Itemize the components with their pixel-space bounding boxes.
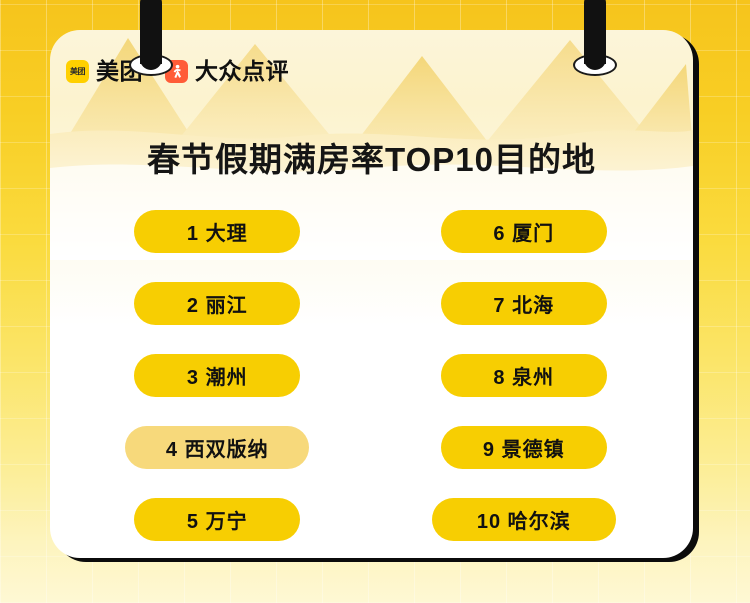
- dianping-wordmark: 大众点评: [195, 60, 289, 83]
- rank-cell-6: 6 厦门: [381, 195, 694, 267]
- rank-pill-1[interactable]: 1 大理: [134, 210, 300, 253]
- rank-cell-8: 8 泉州: [381, 339, 694, 411]
- rank-cell-10: 10 哈尔滨: [381, 483, 694, 555]
- ranking-grid: 1 大理 6 厦门 2 丽江 7 北海 3 潮州 8 泉州 4 西双版纳 9 景…: [50, 195, 693, 555]
- rank-pill-4[interactable]: 4 西双版纳: [125, 426, 309, 469]
- brand-dianping: 大众点评: [165, 60, 289, 83]
- pin-left: [129, 0, 173, 84]
- rank-pill-10[interactable]: 10 哈尔滨: [432, 498, 616, 541]
- page-title: 春节假期满房率TOP10目的地: [50, 133, 693, 181]
- meituan-badge-icon: 美团: [66, 60, 89, 83]
- rank-cell-4: 4 西双版纳: [50, 411, 363, 483]
- rank-pill-3[interactable]: 3 潮州: [134, 354, 300, 397]
- rank-cell-1: 1 大理: [50, 195, 363, 267]
- rank-pill-7[interactable]: 7 北海: [441, 282, 607, 325]
- rank-pill-8[interactable]: 8 泉州: [441, 354, 607, 397]
- rank-cell-7: 7 北海: [381, 267, 694, 339]
- rank-cell-2: 2 丽江: [50, 267, 363, 339]
- pin-right: [573, 0, 617, 84]
- rank-cell-9: 9 景德镇: [381, 411, 694, 483]
- poster-card: 美团 美团 大众点评 春节假期满房率TOP10目的地 1 大理 6: [50, 30, 693, 558]
- rank-cell-5: 5 万宁: [50, 483, 363, 555]
- meituan-badge-text: 美团: [70, 68, 85, 76]
- rank-pill-9[interactable]: 9 景德镇: [441, 426, 607, 469]
- pin-right-stem: [584, 0, 606, 64]
- brand-logo-row: 美团 美团 大众点评: [66, 60, 289, 83]
- poster-canvas: 美团 美团 大众点评 春节假期满房率TOP10目的地 1 大理 6: [0, 0, 750, 603]
- rank-pill-6[interactable]: 6 厦门: [441, 210, 607, 253]
- pin-left-stem: [140, 0, 162, 64]
- rank-pill-5[interactable]: 5 万宁: [134, 498, 300, 541]
- rank-pill-2[interactable]: 2 丽江: [134, 282, 300, 325]
- rank-cell-3: 3 潮州: [50, 339, 363, 411]
